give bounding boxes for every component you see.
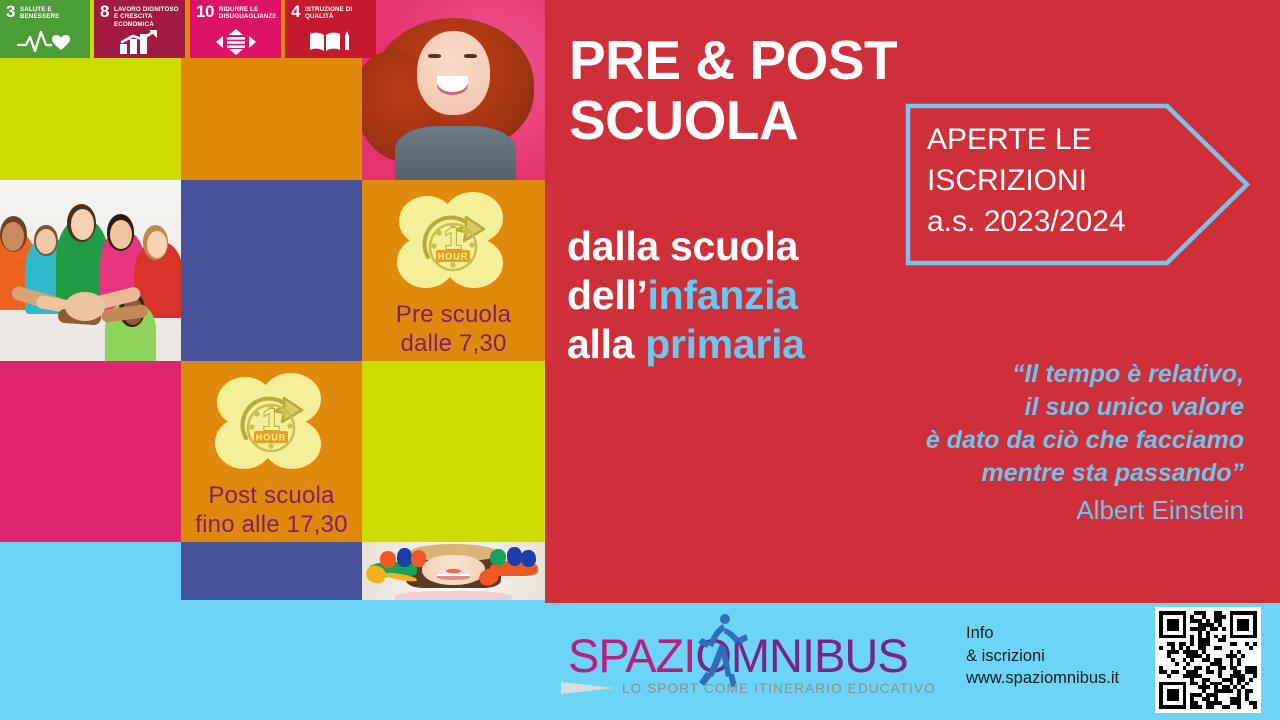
contact-info: Info & iscrizioni www.spaziomnibus.it — [966, 622, 1119, 690]
banner-line-3: a.s. 2023/2024 — [927, 201, 1126, 242]
footer-bar: SPAZIOMNIBUS LO — [0, 600, 1280, 720]
headline-line-1: PRE & POST — [569, 29, 897, 91]
enrollment-arrow-banner: APERTE LE ISCRIZIONI a.s. 2023/2024 — [905, 103, 1250, 266]
info-line-1: Info — [966, 622, 1119, 645]
qr-code[interactable] — [1155, 607, 1261, 713]
quote-line-3: è dato da ciò che facciamo — [926, 424, 1244, 457]
mosaic-tile-magenta-1 — [0, 361, 181, 542]
logo-word-part1: SPAZI — [568, 629, 695, 682]
headline-line-2: SCUOLA — [569, 90, 897, 150]
photo-girl-painted-hands — [362, 542, 545, 600]
mosaic-tile-lime-1 — [0, 0, 181, 180]
mosaic-tile-lime-2 — [362, 361, 545, 542]
subtitle-line-2-accent: infanzia — [648, 272, 798, 318]
logo-tagline: LO SPORT COME ITINERARIO EDUCATIVO — [622, 681, 936, 696]
page-title: PRE & POST SCUOLA — [569, 30, 897, 150]
subtitle-line-3-plain: alla — [567, 321, 645, 367]
mosaic-tile-indigo-2 — [181, 542, 362, 600]
banner-line-1: APERTE LE — [927, 119, 1126, 160]
service-card-line2: dalle 7,30 — [396, 329, 511, 358]
info-website[interactable]: www.spaziomnibus.it — [966, 667, 1119, 690]
quote-line-1: “Il tempo è relativo, — [926, 358, 1244, 391]
poster: 1 HOUR Pre scuola dalle 7,30 — [0, 0, 1280, 720]
subtitle-line-2-plain: dell’ — [567, 272, 648, 318]
service-card-line1: Post scuola — [208, 482, 334, 509]
mosaic-tile-indigo-1 — [181, 180, 362, 361]
quote-line-2: il suo unico valore — [926, 391, 1244, 424]
subtitle-line-2: dell’infanzia — [567, 271, 805, 320]
subtitle: dalla scuola dell’infanzia alla primaria — [567, 222, 805, 369]
pennant-flag-icon — [560, 680, 616, 701]
mosaic-tile-orange-1 — [181, 0, 362, 180]
quote-line-4: mentre sta passando” — [926, 457, 1244, 490]
service-card-line1: Pre scuola — [396, 301, 511, 328]
photo-kids-hands-together — [0, 180, 181, 361]
service-card-line2: fino alle 17,30 — [195, 510, 347, 539]
footer-divider — [545, 600, 1280, 603]
one-hour-clock-icon: 1 HOUR — [210, 371, 334, 475]
svg-text:HOUR: HOUR — [437, 252, 468, 262]
service-card-label: Pre scuola dalle 7,30 — [396, 300, 511, 358]
photo-mosaic: 1 HOUR Pre scuola dalle 7,30 — [0, 0, 545, 600]
subtitle-line-3: alla primaria — [567, 320, 805, 369]
qr-code-matrix — [1159, 611, 1257, 709]
spaziomnibus-logo[interactable]: SPAZIOMNIBUS LO — [560, 618, 930, 702]
banner-text: APERTE LE ISCRIZIONI a.s. 2023/2024 — [927, 119, 1126, 242]
one-hour-clock-icon: 1 HOUR — [392, 190, 516, 294]
banner-line-2: ISCRIZIONI — [927, 160, 1126, 201]
quote-author: Albert Einstein — [926, 490, 1244, 528]
service-card-post-scuola: 1 HOUR Post scuola fino alle 17,30 — [181, 361, 362, 542]
mosaic-tile-skyblue-1 — [0, 542, 181, 600]
einstein-quote: “Il tempo è relativo, il suo unico valor… — [926, 358, 1244, 528]
info-line-2: & iscrizioni — [966, 645, 1119, 668]
photo-laughing-girl — [362, 0, 545, 180]
service-card-label: Post scuola fino alle 17,30 — [195, 481, 347, 539]
service-card-pre-scuola: 1 HOUR Pre scuola dalle 7,30 — [362, 180, 545, 361]
subtitle-line-1: dalla scuola — [567, 222, 805, 271]
subtitle-line-3-accent: primaria — [645, 321, 804, 367]
svg-text:HOUR: HOUR — [255, 433, 286, 443]
main-panel: PRE & POST SCUOLA APERTE LE ISCRIZIONI a… — [545, 0, 1280, 600]
